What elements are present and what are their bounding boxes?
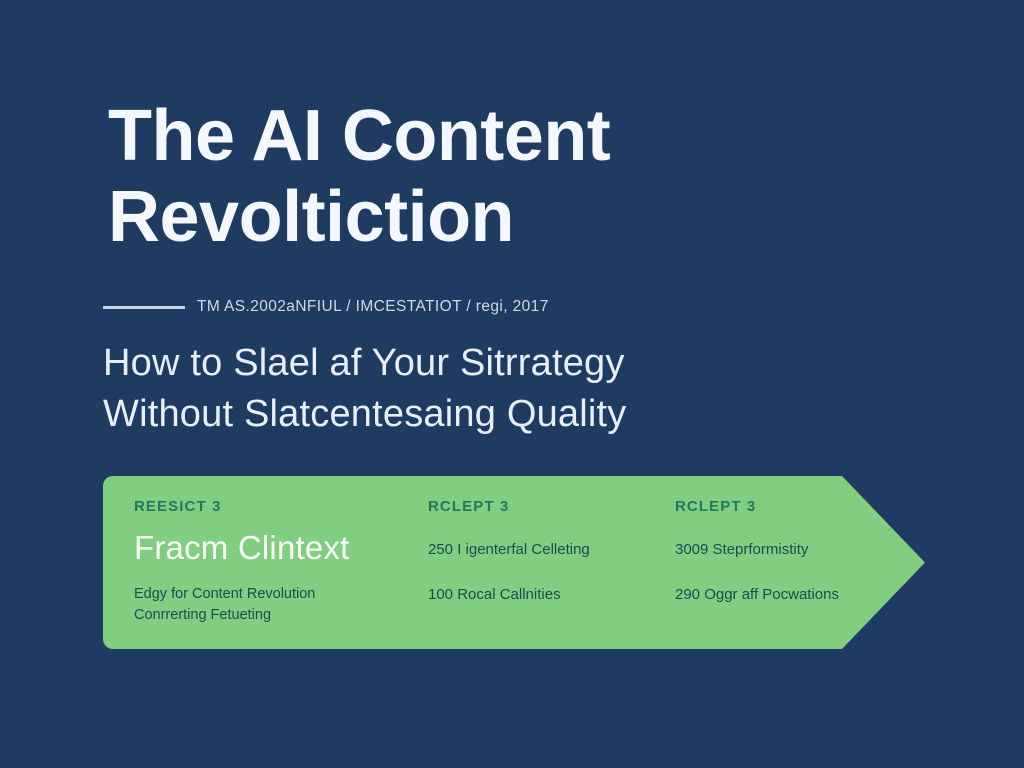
title-line-1: The AI Content xyxy=(108,96,908,177)
column-1-headline: Fracm Clintext xyxy=(134,529,423,567)
column-1-sub: Edgy for Content Revolution Conrrerting … xyxy=(134,584,423,625)
banner-columns: REESICT 3 Fracm Clintext Edgy for Conten… xyxy=(103,476,925,649)
column-1-kicker: REESICT 3 xyxy=(134,498,423,515)
banner-column-1: REESICT 3 Fracm Clintext Edgy for Conten… xyxy=(103,498,423,649)
subtitle-line-2: Without Slatcentesaing Quality xyxy=(103,389,933,440)
column-1-sub-line-1: Edgy for Content Revolution xyxy=(134,584,423,605)
title-line-2: Revoltiction xyxy=(108,177,908,258)
divider-rule xyxy=(103,306,185,309)
subtitle: How to Slael af Your Sitrrategy Without … xyxy=(103,338,933,440)
banner-column-3: RCLEPT 3 3009 Steprformistity 290 Oggr a… xyxy=(671,498,925,649)
highlight-arrow-banner: REESICT 3 Fracm Clintext Edgy for Conten… xyxy=(103,476,925,649)
meta-text: TM AS.2002aNFIUL / IMCESTATIOT / regi, 2… xyxy=(197,298,549,316)
column-2-stat-1: 250 I igenterfal Celleting xyxy=(428,541,671,558)
column-3-stat-1: 3009 Steprformistity xyxy=(675,541,925,558)
presentation-slide: The AI Content Revoltiction TM AS.2002aN… xyxy=(0,0,1024,768)
column-3-stat-2: 290 Oggr aff Pocwations xyxy=(675,586,925,603)
column-1-sub-line-2: Conrrerting Fetueting xyxy=(134,605,423,626)
meta-row: TM AS.2002aNFIUL / IMCESTATIOT / regi, 2… xyxy=(103,298,549,316)
subtitle-line-1: How to Slael af Your Sitrrategy xyxy=(103,338,933,389)
banner-column-2: RCLEPT 3 250 I igenterfal Celleting 100 … xyxy=(423,498,671,649)
column-2-stat-2: 100 Rocal Callnities xyxy=(428,586,671,603)
column-3-kicker: RCLEPT 3 xyxy=(675,498,925,515)
page-title: The AI Content Revoltiction xyxy=(108,96,908,257)
column-2-kicker: RCLEPT 3 xyxy=(428,498,671,515)
